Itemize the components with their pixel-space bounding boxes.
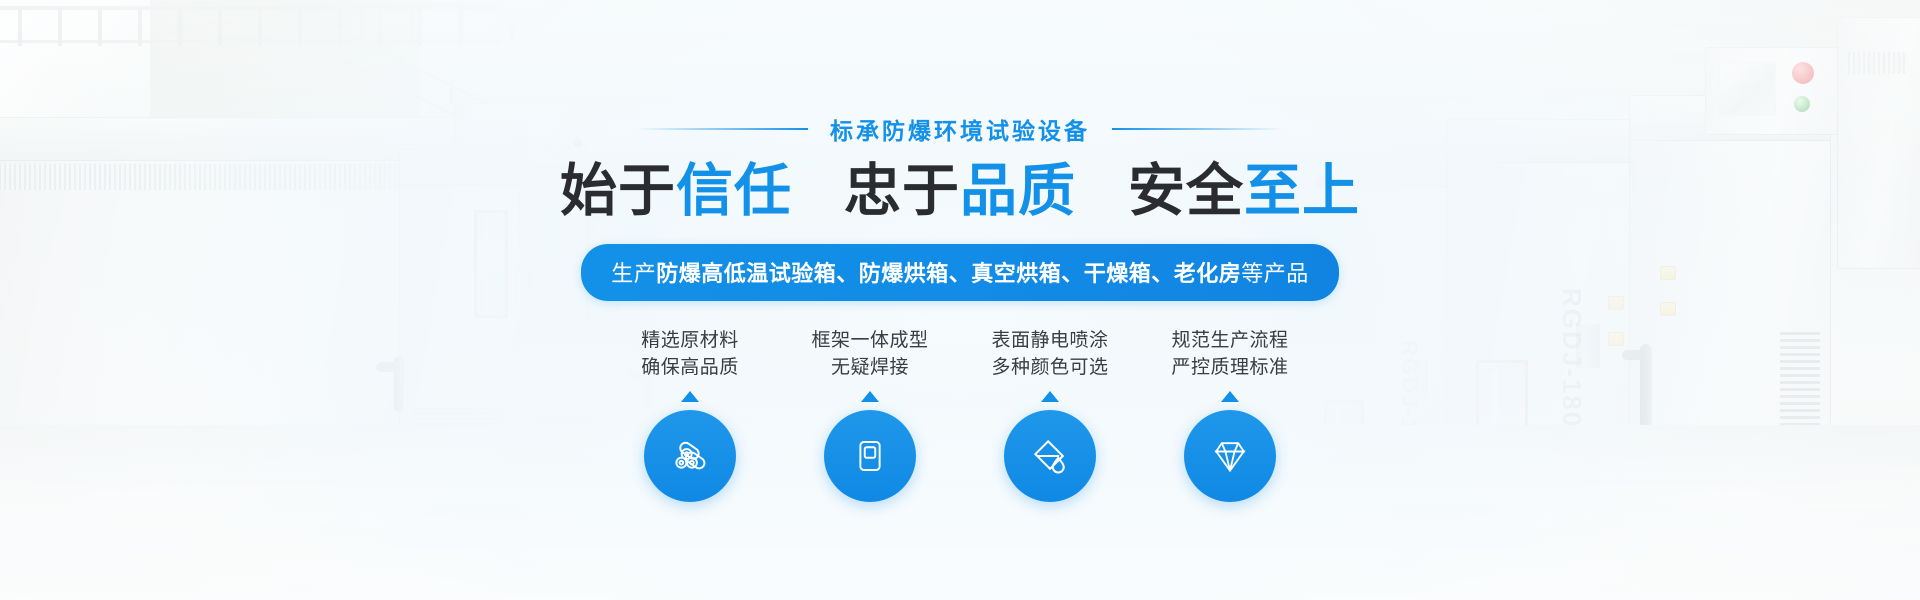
banner-content: 标承防爆环境试验设备 始于信任 忠于品质 安全至上 生产防爆高低温试验箱、防爆烘… xyxy=(0,0,1920,600)
headline-dark-1: 始于 xyxy=(560,159,676,223)
pill-suffix: 等产品 xyxy=(1241,261,1309,286)
feature-2-pointer-icon xyxy=(861,391,879,402)
headline-group-3: 安全至上 xyxy=(1128,160,1360,224)
headline-dark-3: 安全 xyxy=(1128,159,1244,223)
feature-2-text: 框架一体成型 无疑焊接 xyxy=(811,327,928,382)
feature-3-text: 表面静电喷涂 多种颜色可选 xyxy=(991,327,1108,382)
feature-4-line-1: 规范生产流程 xyxy=(1171,327,1288,355)
feature-3-line-1: 表面静电喷涂 xyxy=(991,327,1108,355)
feature-item-1: 精选原材料 确保高品质 xyxy=(626,327,754,502)
frame-cabinet-icon xyxy=(849,435,891,477)
decor-line-right-icon xyxy=(1112,128,1282,130)
decor-line-left-icon xyxy=(638,128,808,130)
pill-prefix: 生产 xyxy=(611,261,656,286)
feature-4-pointer-icon xyxy=(1221,391,1239,402)
headline-blue-3: 至上 xyxy=(1244,159,1360,223)
feature-2-line-2: 无疑焊接 xyxy=(811,354,928,382)
feature-3-line-2: 多种颜色可选 xyxy=(991,354,1108,382)
feature-1-icon-circle xyxy=(644,410,736,502)
headline-group-1: 始于信任 xyxy=(560,160,792,224)
feature-1-pointer-icon xyxy=(681,391,699,402)
headline-blue-2: 品质 xyxy=(960,159,1076,223)
eyebrow-row: 标承防爆环境试验设备 xyxy=(638,112,1282,146)
feature-1-line-1: 精选原材料 xyxy=(641,327,739,355)
product-pill: 生产防爆高低温试验箱、防爆烘箱、真空烘箱、干燥箱、老化房等产品 xyxy=(581,244,1339,301)
banner-stage: RGD xyxy=(0,0,1920,600)
features-row: 精选原材料 确保高品质 xyxy=(626,327,1294,502)
feature-1-line-2: 确保高品质 xyxy=(641,354,739,382)
feature-1-text: 精选原材料 确保高品质 xyxy=(641,327,739,382)
eyebrow-text: 标承防爆环境试验设备 xyxy=(830,112,1090,146)
feature-4-icon-circle xyxy=(1184,410,1276,502)
feature-3-icon-circle xyxy=(1004,410,1096,502)
headline: 始于信任 忠于品质 安全至上 xyxy=(560,160,1360,224)
pill-products: 防爆高低温试验箱、防爆烘箱、真空烘箱、干燥箱、老化房 xyxy=(656,261,1241,286)
feature-2-line-1: 框架一体成型 xyxy=(811,327,928,355)
feature-2-icon-circle xyxy=(824,410,916,502)
feature-4-text: 规范生产流程 严控质理标准 xyxy=(1171,327,1288,382)
feature-item-4: 规范生产流程 严控质理标准 xyxy=(1166,327,1294,502)
stacked-pipes-icon xyxy=(667,433,713,479)
feature-3-pointer-icon xyxy=(1041,391,1059,402)
headline-blue-1: 信任 xyxy=(676,159,792,223)
feature-item-2: 框架一体成型 无疑焊接 xyxy=(806,327,934,502)
feature-4-line-2: 严控质理标准 xyxy=(1171,354,1288,382)
headline-group-2: 忠于品质 xyxy=(844,160,1076,224)
feature-item-3: 表面静电喷涂 多种颜色可选 xyxy=(986,327,1114,502)
headline-dark-2: 忠于 xyxy=(844,159,960,223)
paint-swatch-drop-icon xyxy=(1028,434,1072,478)
diamond-icon xyxy=(1208,434,1252,478)
